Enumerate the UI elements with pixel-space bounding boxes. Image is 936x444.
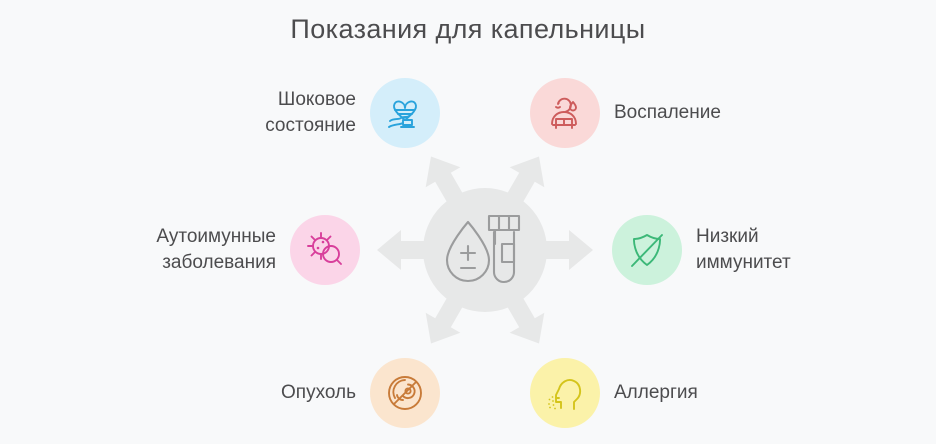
node-autoimmune-label: Аутоимунные заболевания — [156, 224, 276, 276]
infographic-root: Показания для капельницы — [0, 0, 936, 444]
crossed-out-tumor-icon — [383, 371, 427, 415]
node-low-immunity-bubble[interactable] — [612, 215, 682, 285]
node-allergy-label: Аллергия — [614, 380, 698, 406]
heart-in-hand-icon — [383, 91, 427, 135]
center-hub — [375, 140, 595, 360]
node-inflammation[interactable]: Воспаление — [530, 78, 850, 148]
node-tumor-bubble[interactable] — [370, 358, 440, 428]
node-tumor[interactable]: Опухоль — [190, 358, 440, 428]
node-autoimmune-bubble[interactable] — [290, 215, 360, 285]
node-low-immunity-label: Низкий иммунитет — [696, 224, 791, 276]
node-inflammation-label: Воспаление — [614, 100, 721, 126]
node-low-immunity[interactable]: Низкий иммунитет — [612, 215, 922, 285]
virus-magnifier-icon — [303, 228, 347, 272]
node-tumor-label: Опухоль — [281, 380, 356, 406]
node-autoimmune[interactable]: Аутоимунные заболевания — [60, 215, 360, 285]
node-allergy-bubble[interactable] — [530, 358, 600, 428]
page-title: Показания для капельницы — [0, 14, 936, 45]
hub-circle — [423, 188, 547, 312]
node-shock-bubble[interactable] — [370, 78, 440, 148]
fever-patient-in-bed-icon — [543, 91, 587, 135]
sneezing-head-icon — [543, 371, 587, 415]
node-shock[interactable]: Шоковое состояние — [130, 78, 440, 148]
node-allergy[interactable]: Аллергия — [530, 358, 830, 428]
crossed-out-shield-icon — [625, 228, 669, 272]
node-shock-label: Шоковое состояние — [265, 87, 356, 139]
node-inflammation-bubble[interactable] — [530, 78, 600, 148]
